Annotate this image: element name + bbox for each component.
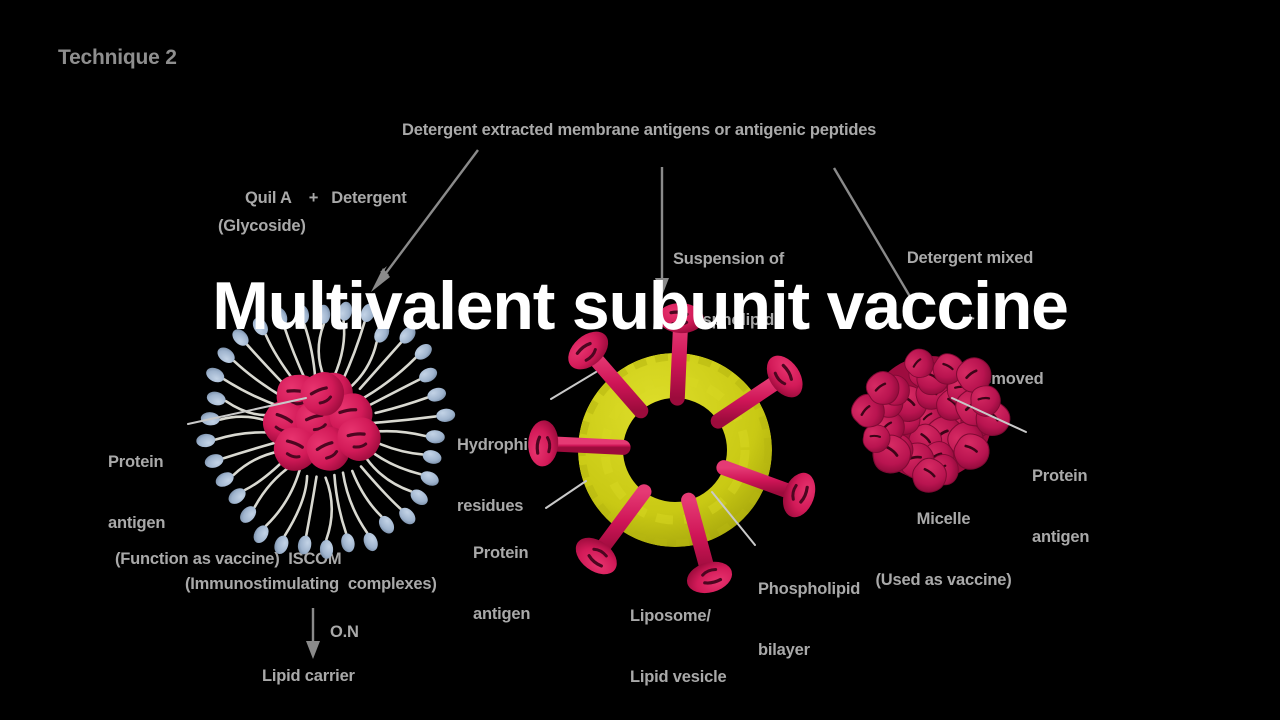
liposome-protein-line-2: antigen (473, 604, 530, 624)
lipid-tail (285, 476, 307, 535)
protein-antigen-blob (268, 422, 323, 477)
quil-a-label: Quil A + Detergent (245, 188, 407, 208)
lipid-head (237, 503, 259, 526)
phospholipid-bilayer-ring (578, 353, 772, 547)
lipid-tail (349, 342, 377, 388)
leader-phospholipid-bilayer (712, 492, 755, 545)
lipid-tail (255, 465, 293, 507)
slide-canvas: Technique 2 Detergent extracted membrane… (0, 0, 1280, 720)
lipid-head (421, 448, 443, 466)
lipid-head (426, 386, 448, 404)
micelle-protein-line-1: Protein (1032, 466, 1089, 486)
lipid-head (396, 505, 419, 528)
leader-hydrophilic (551, 372, 596, 399)
protein-antigen-blob (300, 420, 359, 479)
overnight-label: O.N (330, 622, 359, 642)
lipid-tail (352, 471, 381, 516)
lipid-tail (366, 380, 419, 407)
micelle-protein-line-2: antigen (1032, 527, 1089, 547)
lipid-tail (226, 401, 276, 415)
leader-liposome-protein (546, 481, 586, 508)
lipid-head (213, 469, 236, 489)
lipid-head (226, 485, 249, 507)
arrow-on-lipid-carrier (306, 608, 320, 659)
lipid-tail (245, 458, 286, 490)
lipid-head (408, 486, 431, 508)
lipid-head (205, 390, 227, 408)
technique-label: Technique 2 (58, 45, 177, 71)
liposome-caption-line-1: Liposome/ (630, 606, 766, 626)
lipid-tail (360, 343, 401, 389)
lipid-tail (367, 459, 411, 492)
lipid-tail (306, 477, 316, 536)
protein-antigen-blob (309, 372, 354, 417)
lipid-tail (224, 442, 279, 458)
lipid-tail (373, 416, 436, 423)
micelle-caption: Micelle (Used as vaccine) (866, 469, 1021, 630)
micelle-protein-antigen-label: Protein antigen (1032, 426, 1089, 587)
lipid-head (204, 365, 227, 385)
lipid-head (215, 344, 238, 366)
iscom-caption-line-1: (Function as vaccine) ISCOM (115, 549, 341, 569)
lipid-head (417, 365, 440, 385)
spike-head (777, 468, 821, 521)
lipid-tail (361, 467, 400, 509)
protein-spike (724, 468, 821, 522)
lipid-tail (247, 345, 289, 390)
lipid-tail (266, 470, 299, 525)
liposome-caption-line-2: Lipid vesicle (630, 667, 766, 687)
protein-antigen-blob (325, 389, 377, 441)
protein-antigen-blob (334, 415, 384, 465)
lipid-head (340, 532, 357, 553)
protein-antigen-blob (256, 395, 313, 452)
lipid-tail (373, 431, 426, 436)
phospholipid-bilayer-label: Phospholipid bilayer (758, 539, 860, 700)
lipid-head (251, 523, 272, 546)
lipid-tail (364, 358, 415, 398)
lipid-head (200, 411, 220, 426)
lipid-tail (234, 361, 283, 397)
lipid-tail (224, 379, 281, 406)
leader-iscom-protein (188, 398, 306, 424)
micelle-caption-line-2: (Used as vaccine) (866, 570, 1021, 590)
protein-antigen-blob (276, 375, 320, 419)
liposome-protein-line-1: Protein (473, 543, 530, 563)
lipid-head (196, 433, 216, 448)
micelle-blob (878, 431, 917, 470)
lipid-tail (334, 475, 346, 533)
phospholipid-bilayer-line-1: Phospholipid (758, 579, 860, 599)
lipid-tail (234, 451, 280, 475)
iscom-protein-line-2: antigen (108, 513, 165, 533)
lipid-tail (376, 398, 427, 413)
micelle-caption-line-1: Micelle (866, 509, 1021, 529)
detergent-mixed-line-1: Detergent mixed (876, 248, 1064, 268)
glycoside-label: (Glycoside) (218, 216, 306, 236)
liposome-caption: Liposome/ Lipid vesicle (Used as vaccine… (630, 566, 766, 720)
lipid-head (361, 531, 380, 554)
iscom-caption-line-2: (Immunostimulating complexes) (185, 574, 437, 594)
lipid-tail (216, 432, 277, 439)
suspension-line-1: Suspension of (673, 249, 784, 269)
lipid-carrier-label: Lipid carrier (262, 666, 355, 686)
detergent-extracted-label: Detergent extracted membrane antigens or… (402, 120, 876, 140)
protein-antigen-blob (290, 394, 345, 449)
lipid-tail (343, 473, 367, 533)
detergent-mixed-line-3: Detergent removed (876, 369, 1064, 389)
lipid-tail (368, 449, 421, 475)
phospholipid-bilayer-line-2: bilayer (758, 640, 860, 660)
liposome-protein-antigen-label: Protein antigen (473, 503, 530, 664)
iscom-protein-line-1: Protein (108, 452, 165, 472)
lipid-head (436, 408, 456, 423)
lipid-head (412, 341, 435, 363)
lipid-head (418, 468, 441, 488)
spike-head (569, 530, 624, 582)
protein-antigen-blob (294, 366, 352, 424)
lipid-tail (373, 441, 422, 454)
lipid-tail (220, 417, 275, 424)
lipid-head (376, 513, 397, 536)
page-title: Multivalent subunit vaccine (0, 272, 1280, 340)
lipid-head (425, 429, 445, 444)
hydrophilic-line-1: Hydrophilic (457, 435, 546, 455)
lipid-head (203, 452, 225, 470)
lipid-tail (326, 478, 332, 540)
